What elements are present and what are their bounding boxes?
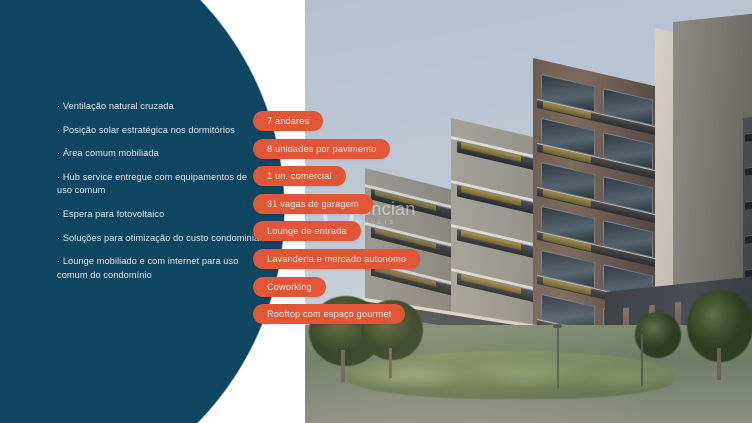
highlight-pill[interactable]: 8 unidades por pavimento [253, 139, 390, 159]
list-item-label: Área comum mobiliada [63, 148, 159, 158]
highlight-pill[interactable]: Rooftop com espaço gourmet [253, 304, 405, 324]
highlight-pills: 7 andares 8 unidades por pavimento 1 un.… [253, 111, 420, 332]
highlight-pill[interactable]: 7 andares [253, 111, 323, 131]
list-item-label: Soluções para otimização do custo condom… [63, 233, 262, 243]
highlight-pill[interactable]: Lounge de entrada [253, 221, 361, 241]
highlight-pill[interactable]: 1 un. comercial [253, 166, 346, 186]
list-item: · Lounge mobiliado e com internet para u… [57, 255, 262, 281]
features-list: · Ventilação natural cruzada · Posição s… [57, 100, 262, 292]
street-lamp [641, 334, 643, 386]
highlight-pill[interactable]: Lavanderia e mercado autonomo [253, 249, 420, 269]
list-item: · Espera para fotovoltaico [57, 208, 262, 221]
list-item-label: Posição solar estratégica nos dormitório… [63, 125, 235, 135]
list-item: · Soluções para otimização do custo cond… [57, 232, 262, 245]
list-item: · Posição solar estratégica nos dormitór… [57, 124, 262, 137]
slide-canvas: concian IMOVEIS · Ventilação natural cru… [0, 0, 752, 423]
highlight-pill[interactable]: Coworking [253, 277, 326, 297]
tree-trunk [717, 348, 721, 380]
street-lamp-head [553, 324, 562, 328]
street-lamp [557, 326, 559, 388]
list-item-label: Lounge mobiliado e com internet para uso… [57, 256, 238, 279]
list-item: · Hub service entregue com equipamentos … [57, 171, 262, 197]
list-item: · Área comum mobiliada [57, 147, 262, 160]
list-item-label: Espera para fotovoltaico [63, 209, 164, 219]
highlight-pill[interactable]: 31 vagas de garagem [253, 194, 373, 214]
list-item-label: Ventilação natural cruzada [63, 101, 174, 111]
list-item-label: Hub service entregue com equipamentos de… [57, 172, 247, 195]
list-item: · Ventilação natural cruzada [57, 100, 262, 113]
